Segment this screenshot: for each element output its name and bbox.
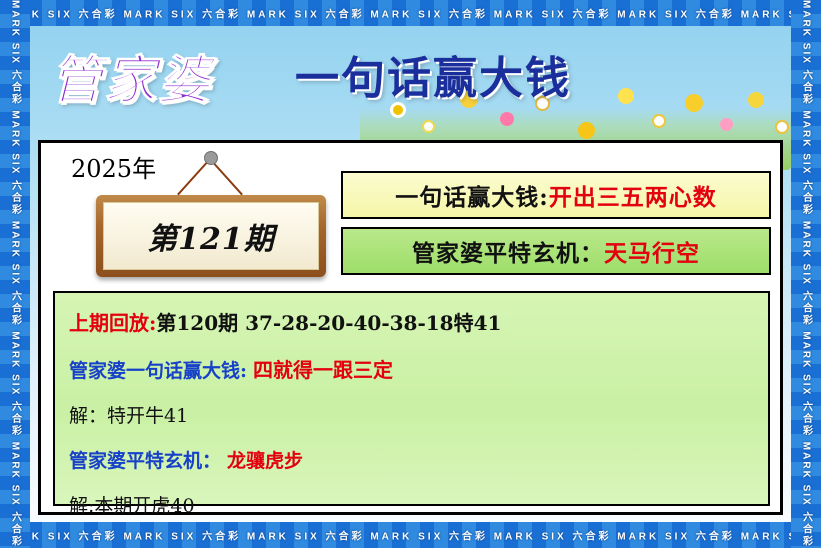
flower-icon xyxy=(422,120,435,133)
hook-icon xyxy=(204,151,218,165)
flower-icon xyxy=(500,112,514,126)
flower-icon xyxy=(748,92,764,108)
issue-number-label: 第121期 xyxy=(147,214,275,258)
bottom-border-text: MARK SIX 六合彩 MARK SIX 六合彩 MARK SIX 六合彩 M… xyxy=(0,528,821,543)
replay-label: 上期回放: xyxy=(69,307,156,336)
answer-line-1: 解：特开牛41 xyxy=(69,401,754,428)
flower-icon xyxy=(720,118,733,131)
tips-line: 管家婆平特玄机： 龙骧虎步 xyxy=(69,446,754,473)
issue-sign: 第121期 xyxy=(96,173,326,283)
brand-slogan: 一句话赢大钱 xyxy=(295,42,571,106)
spacer xyxy=(69,340,754,354)
brand-title: 管家婆 xyxy=(50,38,212,113)
page-header: 管家婆 一句话赢大钱 xyxy=(40,32,740,112)
flower-icon xyxy=(775,120,789,134)
top-border: MARK SIX 六合彩 MARK SIX 六合彩 MARK SIX 六合彩 M… xyxy=(0,0,821,26)
slogan-line: 管家婆一句话赢大钱: 四就得一跟三定 xyxy=(69,354,754,383)
flower-icon xyxy=(578,122,595,139)
right-border-text: MARK SIX 六合彩 MARK SIX 六合彩 MARK SIX 六合彩 M… xyxy=(799,0,814,548)
replay-line: 上期回放: 第120期 37-28-20-40-38-18特41 xyxy=(69,307,754,336)
slogan-value: 四就得一跟三定 xyxy=(253,354,393,383)
right-border: MARK SIX 六合彩 MARK SIX 六合彩 MARK SIX 六合彩 M… xyxy=(791,0,821,548)
answer-text-2: 解:本期开虎40 xyxy=(69,491,195,518)
row-slogan-value: 开出三五两心数 xyxy=(549,178,717,212)
spacer xyxy=(69,432,754,446)
left-border-text: MARK SIX 六合彩 MARK SIX 六合彩 MARK SIX 六合彩 M… xyxy=(8,0,23,548)
left-border: MARK SIX 六合彩 MARK SIX 六合彩 MARK SIX 六合彩 M… xyxy=(0,0,30,548)
slogan-label: 管家婆一句话赢大钱: xyxy=(69,356,247,383)
row-tips-label: 管家婆平特玄机： xyxy=(412,234,604,268)
sign-inner: 第121期 xyxy=(103,202,319,270)
spacer xyxy=(69,387,754,401)
bottom-border: MARK SIX 六合彩 MARK SIX 六合彩 MARK SIX 六合彩 M… xyxy=(0,522,821,548)
flower-icon xyxy=(652,114,666,128)
tips-value: 龙骧虎步 xyxy=(227,446,303,473)
row-slogan-result: 一句话赢大钱: 开出三五两心数 xyxy=(341,171,771,219)
tips-label: 管家婆平特玄机： xyxy=(69,446,221,473)
replay-value: 第120期 37-28-20-40-38-18特41 xyxy=(156,307,501,336)
row-tips-value: 天马行空 xyxy=(604,234,700,268)
spacer xyxy=(69,477,754,491)
answer-text-1: 解：特开牛41 xyxy=(69,401,188,428)
content-panel: 上期回放: 第120期 37-28-20-40-38-18特41 管家婆一句话赢… xyxy=(53,291,770,506)
row-tips-result: 管家婆平特玄机： 天马行空 xyxy=(341,227,771,275)
main-card: 2025年 第121期 一句话赢大钱: 开出三五两心数 管家婆平特玄机： 天马行… xyxy=(38,140,783,515)
rope-left xyxy=(177,158,211,195)
top-border-text: MARK SIX 六合彩 MARK SIX 六合彩 MARK SIX 六合彩 M… xyxy=(0,6,821,21)
sign-board: 第121期 xyxy=(96,195,326,277)
row-slogan-label: 一句话赢大钱: xyxy=(395,178,549,212)
answer-line-2: 解:本期开虎40 xyxy=(69,491,754,518)
